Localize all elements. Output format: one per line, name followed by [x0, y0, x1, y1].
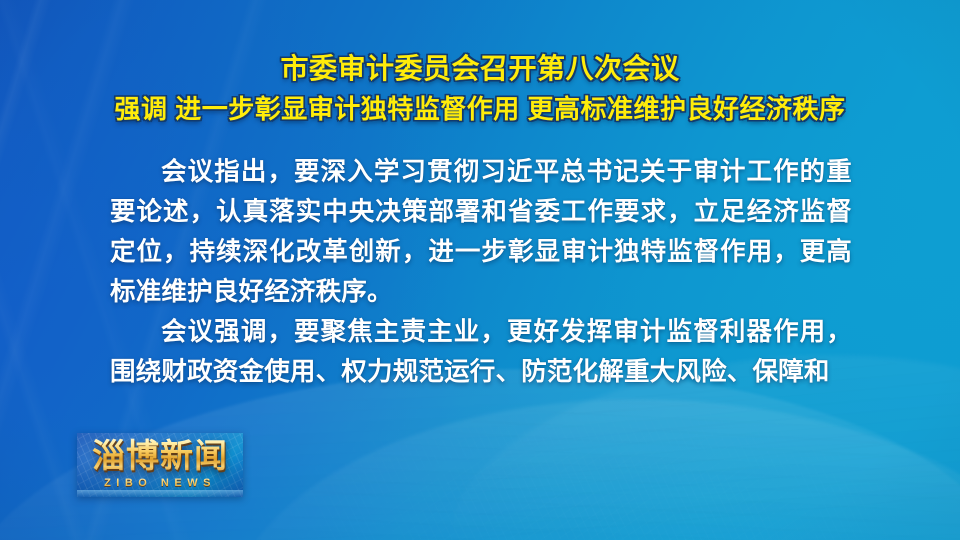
broadcast-slate: 市委审计委员会召开第八次会议 强调 进一步彰显审计独特监督作用 更高标准维护良好…	[0, 0, 960, 540]
headline-primary: 市委审计委员会召开第八次会议	[0, 49, 960, 89]
headline-block: 市委审计委员会召开第八次会议 强调 进一步彰显审计独特监督作用 更高标准维护良好…	[0, 49, 960, 129]
channel-name-chinese: 淄博新闻	[77, 436, 243, 476]
article-paragraph-1: 会议指出，要深入学习贯彻习近平总书记关于审计工作的重要论述，认真落实中央决策部署…	[110, 152, 852, 312]
article-body: 会议指出，要深入学习贯彻习近平总书记关于审计工作的重要论述，认真落实中央决策部署…	[110, 152, 852, 392]
channel-logo-badge: 淄博新闻 ZIBO NEWS	[77, 433, 243, 497]
channel-name-english: ZIBO NEWS	[77, 476, 243, 490]
logo-badge-baseline	[77, 490, 243, 497]
article-paragraph-2: 会议强调，要聚焦主责主业，更好发挥审计监督利器作用，围绕财政资金使用、权力规范运…	[110, 312, 852, 392]
headline-secondary: 强调 进一步彰显审计独特监督作用 更高标准维护良好经济秩序	[0, 89, 960, 129]
